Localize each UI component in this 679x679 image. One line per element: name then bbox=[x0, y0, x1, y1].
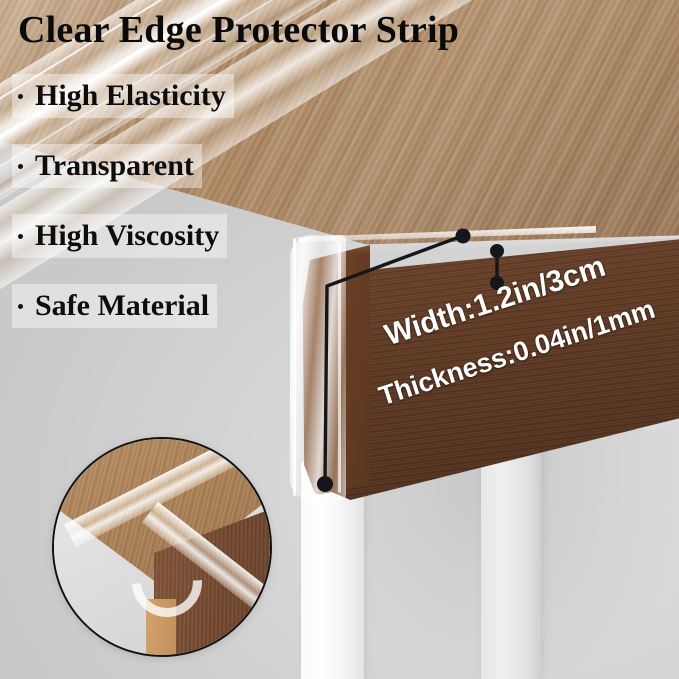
protector-strip-corner-edge-right bbox=[338, 243, 341, 493]
feature-label: Safe Material bbox=[35, 291, 209, 321]
feature-label: High Viscosity bbox=[35, 221, 219, 251]
list-item: High Viscosity bbox=[12, 214, 227, 258]
list-item: Safe Material bbox=[12, 284, 217, 328]
bullet-icon bbox=[18, 94, 23, 99]
bullet-icon bbox=[18, 164, 23, 169]
page-title: Clear Edge Protector Strip bbox=[18, 8, 459, 52]
bullet-icon bbox=[18, 304, 23, 309]
list-item: High Elasticity bbox=[12, 74, 234, 118]
detail-inset-circle bbox=[52, 437, 272, 657]
product-image: Width:1.2in/3cm Thickness:0.04in/1mm Cle… bbox=[0, 0, 679, 679]
feature-list: High Elasticity Transparent High Viscosi… bbox=[12, 74, 312, 354]
feature-label: High Elasticity bbox=[35, 81, 226, 111]
bullet-icon bbox=[18, 234, 23, 239]
table-leg-right bbox=[481, 437, 541, 679]
feature-label: Transparent bbox=[35, 151, 194, 181]
list-item: Transparent bbox=[12, 144, 202, 188]
